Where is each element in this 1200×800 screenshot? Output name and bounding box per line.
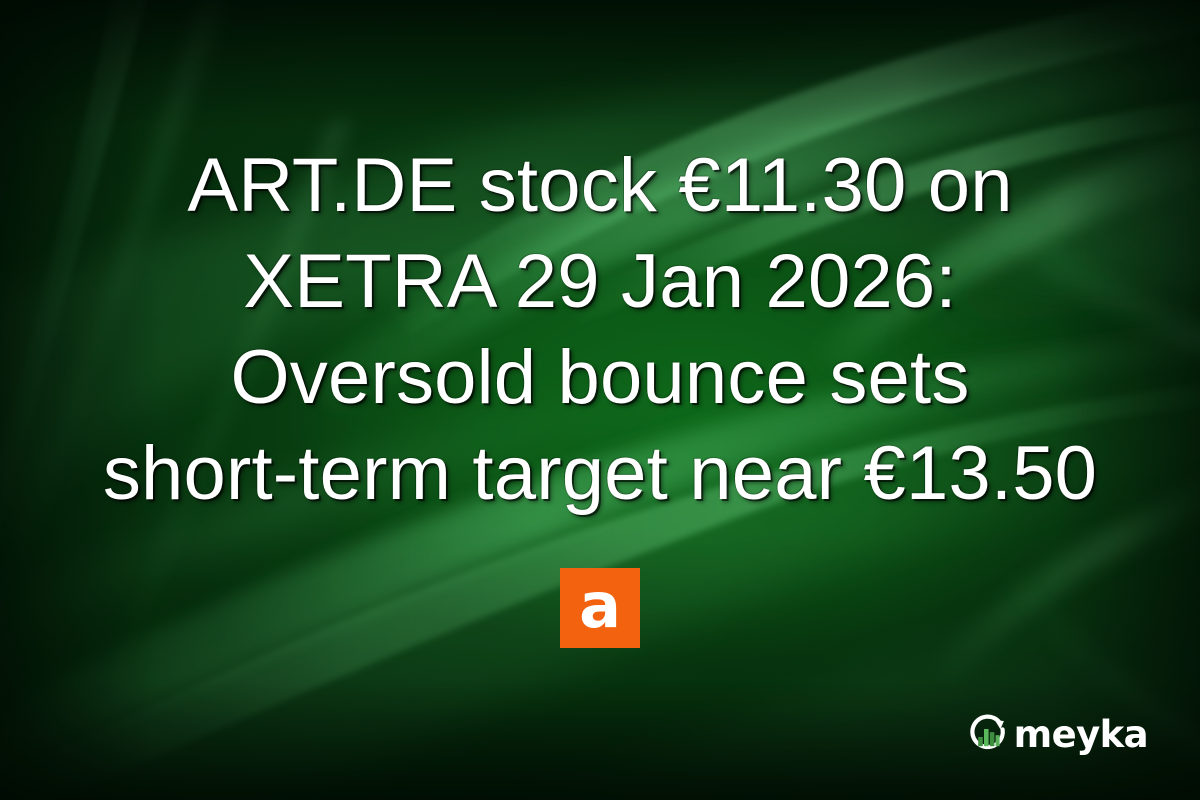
brand-name: meyka — [1014, 716, 1148, 753]
headline-line-3: Oversold bounce sets — [0, 330, 1200, 426]
brand-watermark[interactable]: meyka — [964, 710, 1148, 758]
source-badge[interactable]: a — [560, 568, 640, 648]
headline-line-2: XETRA 29 Jan 2026: — [0, 234, 1200, 330]
headline-line-4: short-term target near €13.50 — [0, 426, 1200, 522]
headline: ART.DE stock €11.30 on XETRA 29 Jan 2026… — [0, 138, 1200, 522]
meyka-logo-icon — [964, 710, 1012, 758]
source-badge-letter: a — [579, 575, 621, 637]
headline-line-1: ART.DE stock €11.30 on — [0, 138, 1200, 234]
news-card: ART.DE stock €11.30 on XETRA 29 Jan 2026… — [0, 0, 1200, 800]
